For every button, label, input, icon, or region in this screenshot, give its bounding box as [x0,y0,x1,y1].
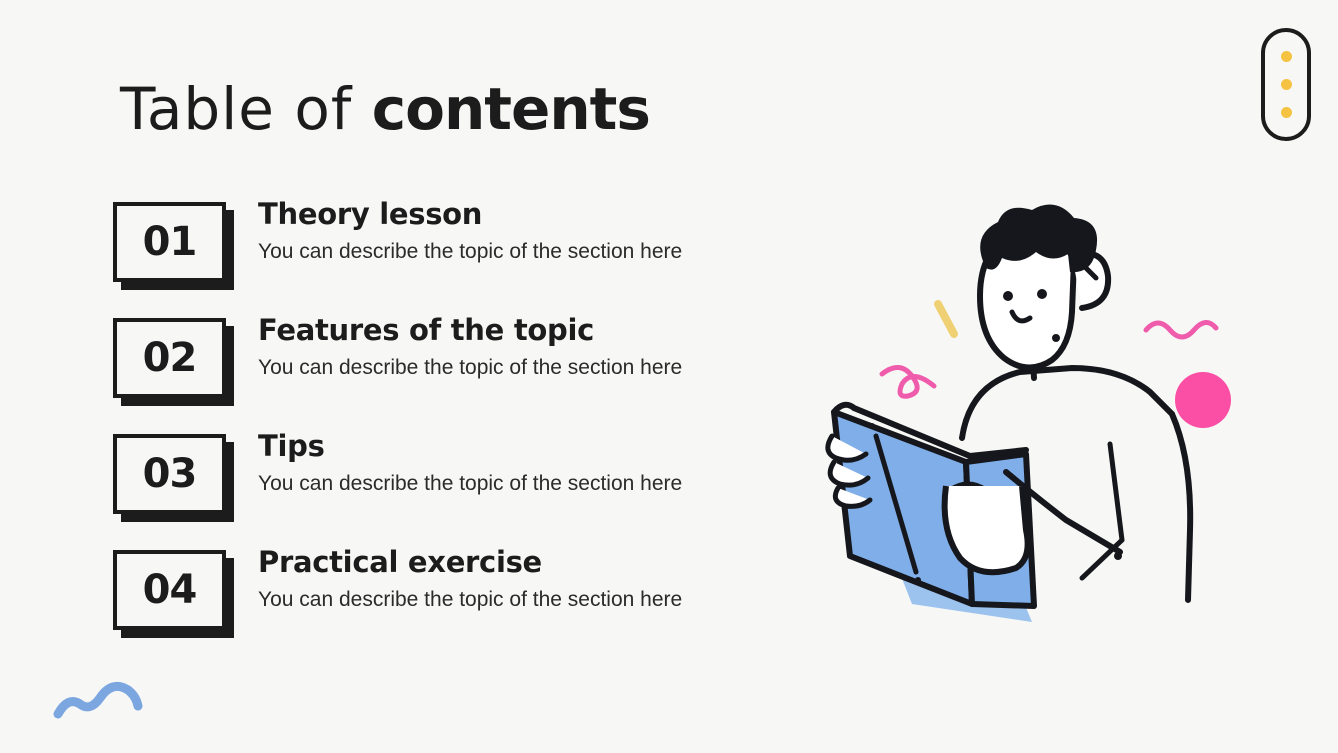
page-title-light: Table of [120,75,372,143]
pink-squiggle-icon [882,367,934,396]
number-badge-label: 01 [143,222,197,262]
yellow-dash-icon [938,304,954,334]
eye-left [1003,291,1013,301]
number-badge: 03 [113,434,237,522]
list-item-text: Features of the topic You can describe t… [258,314,798,382]
pink-wave-icon [1146,322,1216,337]
blue-squiggle-icon [58,686,138,714]
number-badge-box: 04 [113,550,226,630]
book-dot-top [869,423,875,429]
page-title: Table of contents [120,80,650,139]
list-item-title: Tips [258,430,798,463]
number-badge-box: 03 [113,434,226,514]
body-shirt [962,368,1172,438]
list-item[interactable]: 04 Practical exercise You can describe t… [113,546,793,662]
list-item-title: Theory lesson [258,198,798,231]
chin-mole [1052,334,1060,342]
number-badge: 02 [113,318,237,406]
number-badge-label: 02 [143,338,197,378]
list-item-text: Theory lesson You can describe the topic… [258,198,798,266]
eye-right [1037,289,1047,299]
pill-dot-icon [1281,79,1292,90]
list-item[interactable]: 01 Theory lesson You can describe the to… [113,198,793,314]
pill-dot-icon [1281,51,1292,62]
pill-decoration [1261,28,1311,141]
list-item-description: You can describe the topic of the sectio… [258,238,798,265]
book-dot-bottom [915,577,921,583]
blue-squiggle-decoration [52,676,148,726]
pink-circle-icon [1175,372,1231,428]
list-item-text: Tips You can describe the topic of the s… [258,430,798,498]
page-title-bold: contents [372,75,650,143]
elbow-dot [1114,552,1122,560]
number-badge: 01 [113,202,237,290]
number-badge-box: 01 [113,202,226,282]
list-item-description: You can describe the topic of the sectio… [258,354,798,381]
list-item-description: You can describe the topic of the sectio… [258,470,798,497]
number-badge-label: 03 [143,454,197,494]
number-badge-label: 04 [143,570,197,610]
pill-dot-icon [1281,107,1292,118]
slide-canvas: Table of contents 01 Theory lesson You c… [0,0,1338,753]
list-item-description: You can describe the topic of the sectio… [258,586,798,613]
number-badge: 04 [113,550,237,638]
list-item-title: Features of the topic [258,314,798,347]
number-badge-box: 02 [113,318,226,398]
list-item[interactable]: 02 Features of the topic You can describ… [113,314,793,430]
list-item[interactable]: 03 Tips You can describe the topic of th… [113,430,793,546]
right-arm [1172,414,1190,600]
list-item-title: Practical exercise [258,546,798,579]
list-item-text: Practical exercise You can describe the … [258,546,798,614]
sleeve-line [1110,444,1122,540]
person-reading-book-illustration [820,200,1250,640]
contents-list: 01 Theory lesson You can describe the to… [113,198,793,662]
